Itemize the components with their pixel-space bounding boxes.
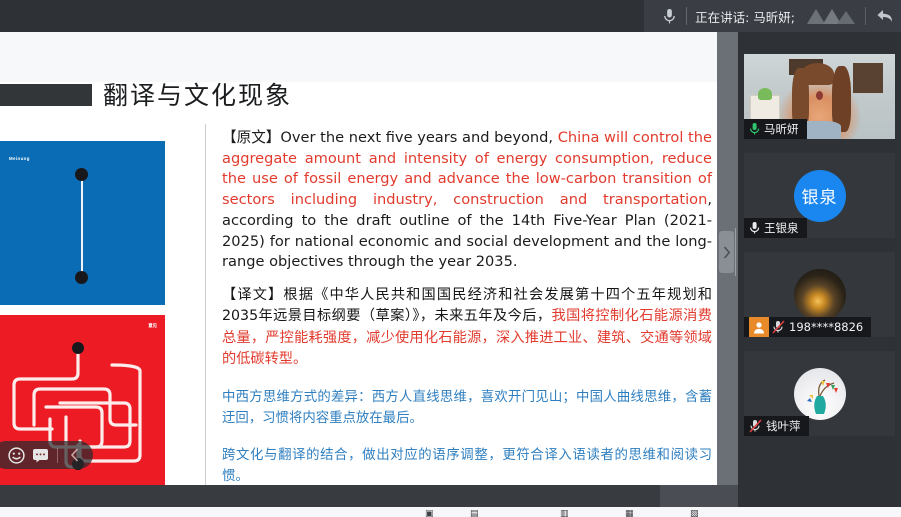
participant-name: 马昕妍	[764, 121, 799, 137]
vase-illustration	[800, 376, 840, 416]
diagram-label-blue: Meinung	[9, 156, 30, 161]
slide-header-band	[0, 32, 717, 82]
microphone-muted-icon	[772, 320, 785, 334]
shared-slide[interactable]: 翻译与文化现象 Meinung 意见	[0, 32, 717, 485]
participant-rail: 马昕妍 银泉 王银泉	[738, 32, 901, 517]
microphone-muted-icon	[749, 419, 762, 433]
microphone-icon[interactable]	[654, 0, 684, 32]
smiley-face-icon[interactable]	[4, 443, 28, 467]
person-icon	[749, 317, 769, 337]
divider	[57, 448, 58, 463]
top-bar: 正在讲话: 马昕妍;	[0, 0, 901, 32]
speaking-status-label: 正在讲话: 马昕妍;	[695, 7, 795, 26]
path-endpoint-dot	[72, 342, 84, 354]
page-title: 翻译与文化现象	[103, 76, 292, 112]
note-paragraph-2: 跨文化与翻译的结合，做出对应的语序调整，更符合译入语读者的思维和阅读习惯。	[222, 446, 712, 488]
straight-line-shape	[81, 172, 83, 276]
translation-paragraph: 【译文】根据《中华人民共和国国民经济和社会发展第十四个五年规划和2035年远景目…	[222, 285, 712, 370]
participant-name: 王银泉	[764, 220, 799, 236]
back-arrow-icon[interactable]	[875, 6, 895, 26]
title-accent-bar	[0, 84, 92, 106]
source-text-lead: 【原文】Over the next five years and beyond,	[222, 129, 558, 146]
chevron-right-icon	[723, 246, 731, 259]
avatar: 银泉	[794, 170, 846, 222]
participant-tile-3[interactable]: 钱叶萍	[744, 351, 895, 436]
participant-name-badge: 王银泉	[744, 218, 807, 238]
avatar	[794, 368, 846, 420]
participant-name-badge: 钱叶萍	[744, 416, 809, 436]
participant-tile-2[interactable]: 198****8826	[744, 252, 895, 337]
bottom-toolbar-segment	[660, 485, 738, 507]
note-paragraph-1: 中西方思维方式的差异：西方人直线思维，喜欢开门见山；中国人曲线思维，含蓄迂回，习…	[222, 388, 712, 430]
avatar	[794, 269, 846, 321]
participant-name: 198****8826	[789, 320, 863, 334]
participant-name-badge: 马昕妍	[744, 119, 807, 139]
slide-text-column: 【原文】Over the next five years and beyond,…	[222, 128, 712, 497]
line-endpoint-dot	[75, 271, 88, 284]
participant-tile-0[interactable]: 马昕妍	[744, 54, 895, 139]
participant-name-badge: 198****8826	[744, 317, 871, 337]
panel-collapse-handle[interactable]	[719, 231, 734, 273]
bottom-toolbar-strip[interactable]	[0, 485, 738, 507]
chevron-left-icon[interactable]	[63, 443, 87, 467]
participant-name: 钱叶萍	[766, 418, 801, 434]
column-divider	[205, 124, 206, 491]
divider	[686, 7, 687, 25]
meeting-screen-share-window: 正在讲话: 马昕妍; 翻译与文化现象 Meinung	[0, 0, 901, 517]
microphone-icon	[749, 122, 760, 136]
source-text-paragraph: 【原文】Over the next five years and beyond,…	[222, 128, 712, 273]
divider	[865, 7, 866, 25]
floating-reaction-toolbar[interactable]	[0, 441, 93, 469]
audio-wave-icon	[803, 6, 855, 26]
microphone-icon	[749, 221, 760, 235]
participant-tile-1[interactable]: 银泉 王银泉	[744, 153, 895, 238]
speaking-status-panel: 正在讲话: 马昕妍;	[644, 0, 901, 32]
comment-bubble-icon[interactable]	[28, 443, 52, 467]
bottom-control-icons: ▣ ▤ ▥ ▦ ▧	[0, 507, 738, 517]
line-endpoint-dot	[75, 168, 88, 181]
